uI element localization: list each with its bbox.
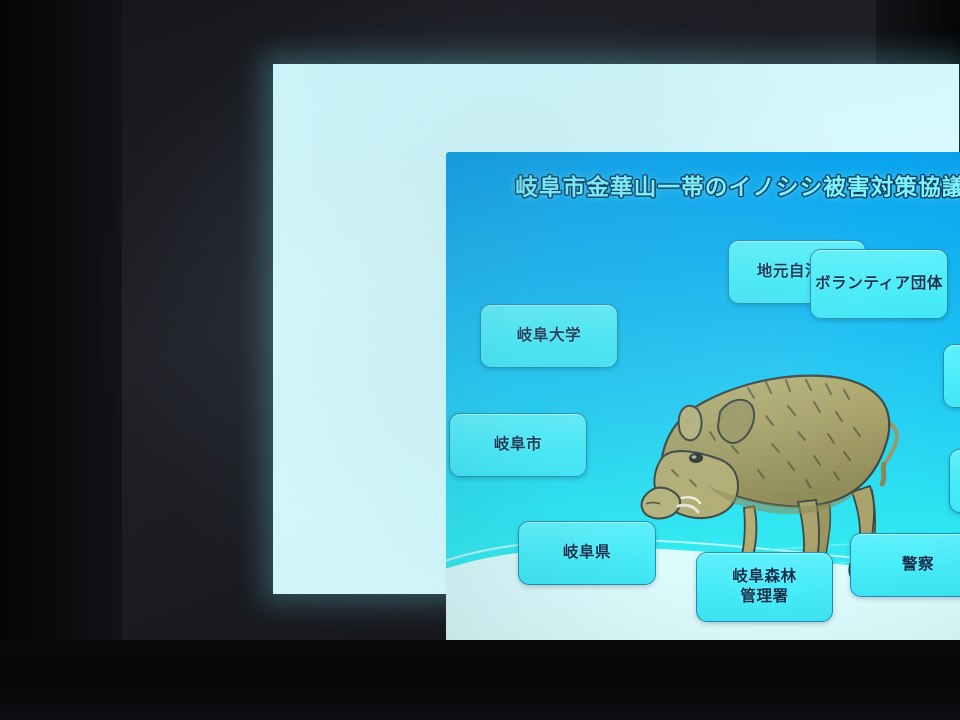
member-box-label: 岐阜市 <box>494 435 542 455</box>
projected-light-border: 岐阜市金華山一帯のイノシシ被害対策協議会とは 地元自治会ボランティア団体岐阜大学… <box>273 64 959 594</box>
member-box-ryoyukai: 猟友会 <box>949 449 960 513</box>
member-box-volunteer-dantai: ボランティア団体 <box>810 249 948 319</box>
member-box-keisatsu: 警察 <box>850 533 960 597</box>
member-box-label: 警察 <box>902 555 934 575</box>
room-wall-bottom <box>0 640 960 720</box>
member-box-label: 岐阜森林管理署 <box>732 567 796 607</box>
member-box-label: 地元自治会 <box>757 262 838 282</box>
photo-of-projection-screen: 岐阜市金華山一帯のイノシシ被害対策協議会とは 地元自治会ボランティア団体岐阜大学… <box>0 0 960 720</box>
member-box-jimoto-jichikai: 地元自治会 <box>728 240 866 304</box>
member-box-gifu-shinrin: 岐阜森林管理署 <box>696 552 833 622</box>
room-wall-left <box>0 0 122 720</box>
member-box-gifu-shi: 岐阜市 <box>449 413 587 477</box>
presentation-slide: 岐阜市金華山一帯のイノシシ被害対策協議会とは 地元自治会ボランティア団体岐阜大学… <box>446 152 960 654</box>
projection-screen-frame: 岐阜市金華山一帯のイノシシ被害対策協議会とは 地元自治会ボランティア団体岐阜大学… <box>122 0 876 645</box>
member-box-label: 岐阜大学 <box>517 326 581 346</box>
member-box-gifu-daigaku: 岐阜大学 <box>480 304 618 368</box>
member-box-label: ボランティア団体 <box>815 274 943 294</box>
member-box-minkan-kigyo: 民間企業 <box>943 344 960 408</box>
slide-title: 岐阜市金華山一帯のイノシシ被害対策協議会とは <box>446 170 960 202</box>
member-box-gifu-ken: 岐阜県 <box>518 521 656 585</box>
member-box-label: 岐阜県 <box>563 543 611 563</box>
